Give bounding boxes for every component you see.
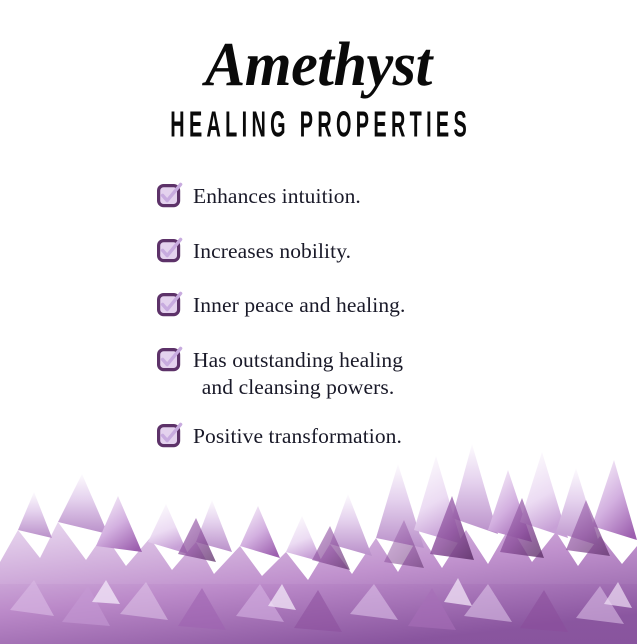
poster-canvas: Amethyst HEALING PROPERTIES Enhances int…: [0, 0, 637, 644]
list-item: Inner peace and healing.: [157, 291, 637, 320]
list-item-label: Has outstanding healing and cleansing po…: [193, 346, 403, 402]
page-subtitle: HEALING PROPERTIES: [121, 106, 516, 142]
page-title: Amethyst: [10, 34, 628, 96]
list-item: Has outstanding healing and cleansing po…: [157, 346, 637, 402]
list-item-label: Inner peace and healing.: [193, 291, 406, 320]
list-item-label: Increases nobility.: [193, 237, 351, 266]
list-item-label: Enhances intuition.: [193, 182, 361, 211]
healing-properties-list: Enhances intuition. Increases nobility. …: [0, 182, 637, 476]
checked-checkbox-icon: [157, 292, 182, 317]
checked-checkbox-icon: [157, 347, 182, 372]
checked-checkbox-icon: [157, 238, 182, 263]
list-item: Enhances intuition.: [157, 182, 637, 211]
checked-checkbox-icon: [157, 183, 182, 208]
heading-block: Amethyst HEALING PROPERTIES: [0, 34, 637, 140]
list-item: Increases nobility.: [157, 237, 637, 266]
amethyst-crystal-cluster-photo: Amethyst crystal cluster: [0, 434, 637, 644]
